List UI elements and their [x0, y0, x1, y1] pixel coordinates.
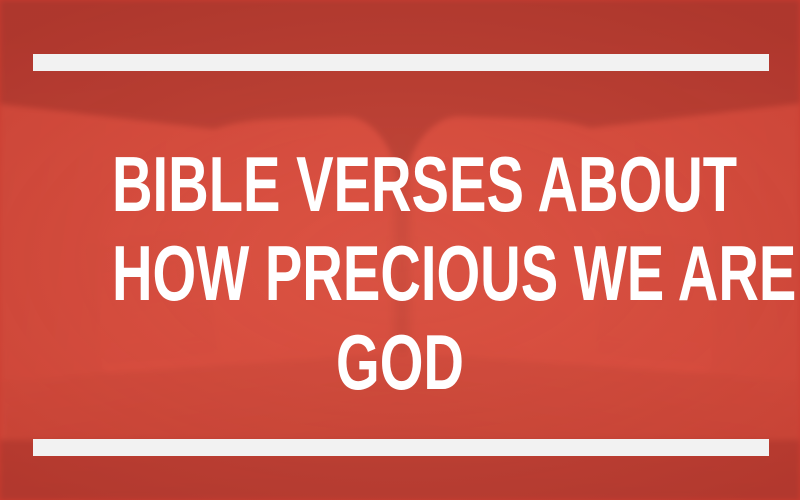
- banner-title: BIBLE VERSES ABOUT HOW PRECIOUS WE ARE T…: [112, 140, 688, 407]
- banner-title-line-1: BIBLE VERSES ABOUT: [112, 140, 688, 229]
- banner-title-line-3: GOD: [112, 318, 688, 407]
- top-divider-rule: [33, 54, 769, 71]
- bottom-divider-rule: [33, 439, 769, 456]
- bible-verses-banner: BIBLE VERSES ABOUT HOW PRECIOUS WE ARE T…: [0, 0, 800, 500]
- banner-title-line-2: HOW PRECIOUS WE ARE TO: [112, 229, 688, 318]
